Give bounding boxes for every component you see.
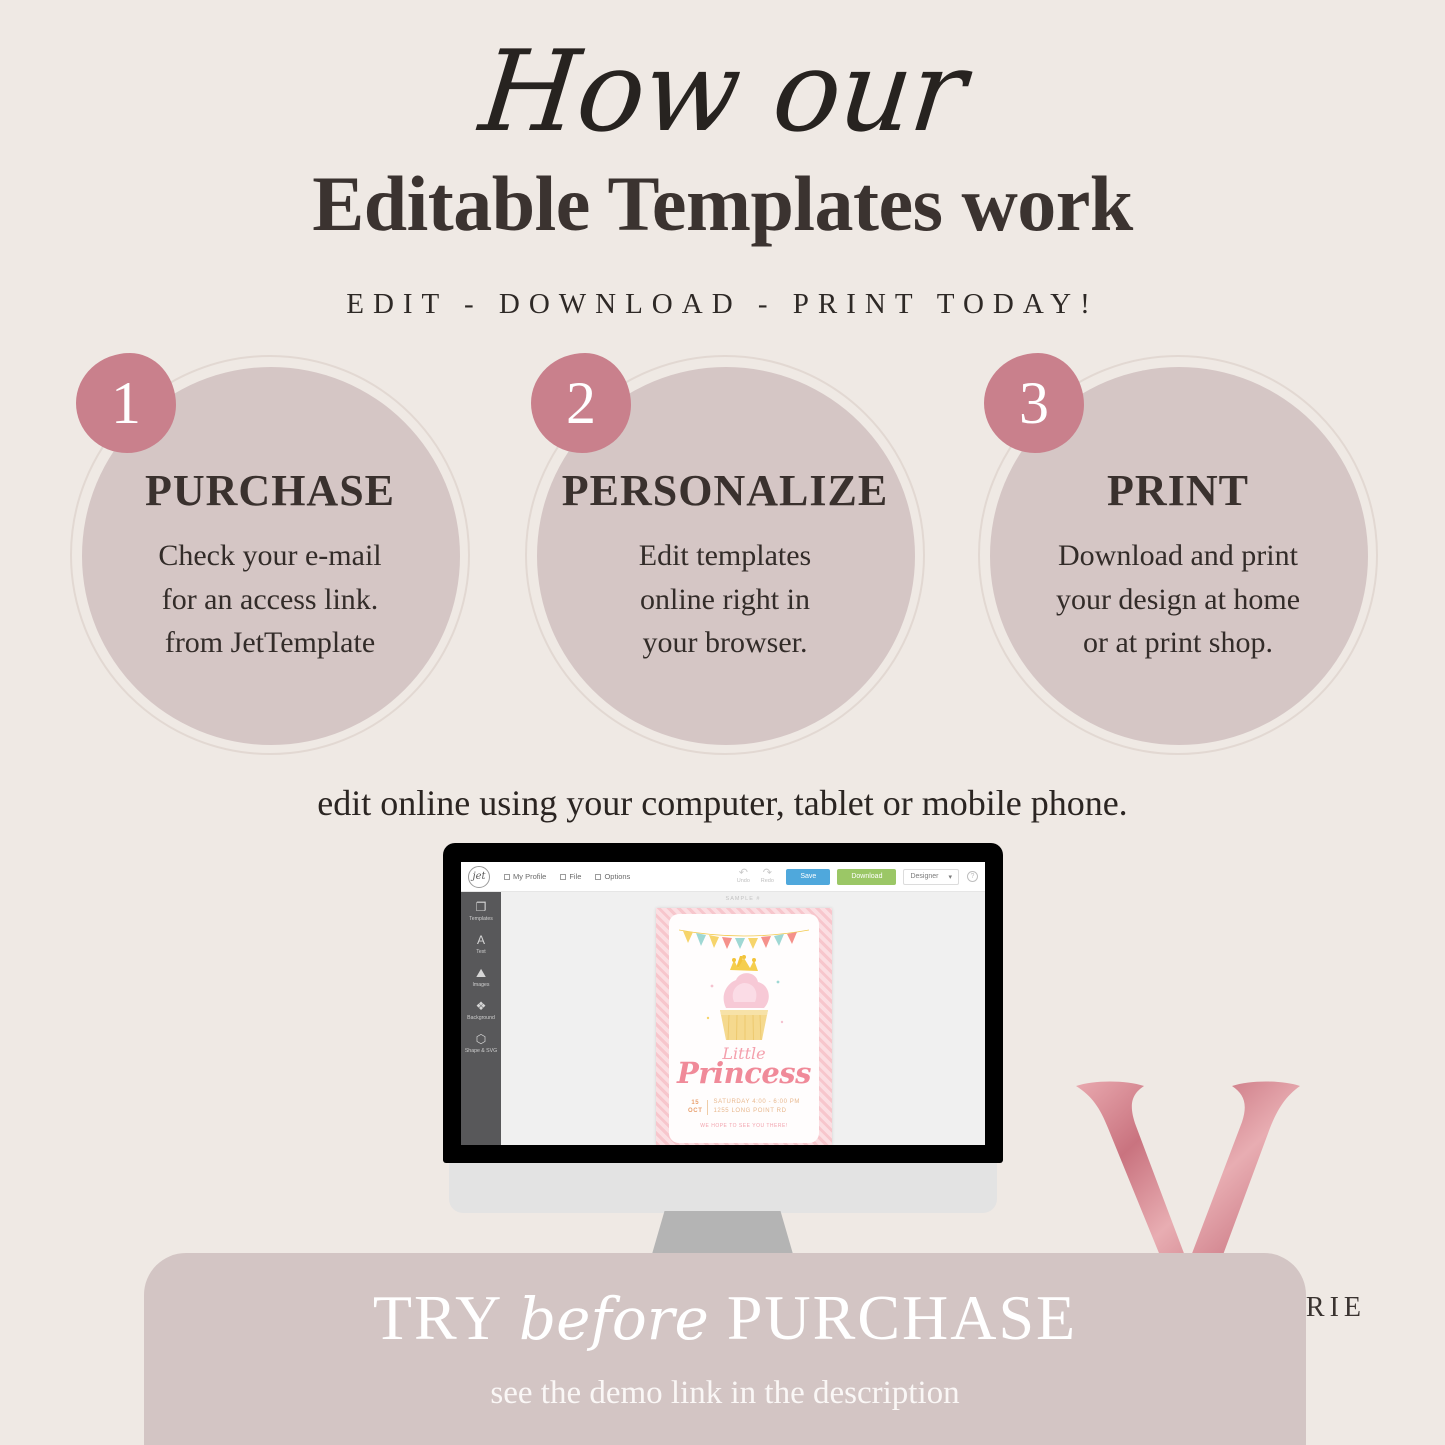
step-body: PERSONALIZE Edit templates online right …: [555, 465, 895, 665]
designer-label: Designer: [910, 873, 938, 880]
step-line: Download and print: [1008, 534, 1348, 578]
editor-toolbar: jet My Profile File Options: [461, 862, 985, 892]
redo-icon: ↷: [755, 869, 779, 878]
text-icon: A: [474, 933, 488, 947]
poster-canvas: How our Editable Templates work EDIT - D…: [0, 0, 1445, 1445]
step-card-2: 2 PERSONALIZE Edit templates online righ…: [525, 355, 925, 755]
monitor-bezel: jet My Profile File Options: [443, 843, 1003, 1163]
card-date: 15 OCT: [688, 1099, 702, 1115]
card-date-day: 15: [688, 1099, 702, 1107]
sidebar-item-label: Text: [476, 949, 486, 955]
bottom-panel: TRY before PURCHASE see the demo link in…: [144, 1253, 1306, 1445]
step-title: PERSONALIZE: [555, 465, 895, 516]
card-date-month: OCT: [688, 1107, 702, 1115]
editor-sidebar: ❐ Templates A Text ⛰ Images ❖ Background: [461, 892, 501, 1145]
redo-label: Redo: [761, 878, 774, 884]
designer-dropdown[interactable]: Designer ▾: [903, 869, 959, 885]
step-line: Check your e-mail: [100, 534, 440, 578]
step-description: Download and print your design at home o…: [1008, 534, 1348, 665]
save-button[interactable]: Save: [786, 869, 830, 885]
file-icon: [560, 874, 566, 880]
options-icon: [595, 874, 601, 880]
step-line: Edit templates: [555, 534, 895, 578]
header-script-line: How our: [0, 34, 1445, 152]
background-icon: ❖: [474, 999, 488, 1013]
sidebar-item-text[interactable]: A Text: [461, 933, 501, 955]
header-subtitle: EDIT - DOWNLOAD - PRINT TODAY!: [0, 288, 1445, 321]
chevron-down-icon: ▾: [948, 873, 952, 881]
menu-label: Options: [604, 872, 630, 881]
panel-title-mid: before: [519, 1285, 709, 1353]
step-line: your browser.: [555, 621, 895, 665]
step-card-3: 3 PRINT Download and print your design a…: [978, 355, 1378, 755]
card-event-meta: 15 OCT SATURDAY 4:00 - 6:00 PM 1255 LONG…: [677, 1098, 811, 1116]
sidebar-item-shape-svg[interactable]: ⬡ Shape & SVG: [461, 1032, 501, 1054]
images-icon: ⛰: [474, 966, 488, 980]
meta-divider: [707, 1100, 708, 1115]
menu-item-file[interactable]: File: [560, 872, 581, 881]
steps-row: 1 PURCHASE Check your e-mail for an acce…: [0, 355, 1445, 755]
monitor-mockup: jet My Profile File Options: [443, 843, 1003, 1253]
menu-item-options[interactable]: Options: [595, 872, 630, 881]
panel-title: TRY before PURCHASE: [144, 1281, 1306, 1355]
sidebar-item-label: Shape & SVG: [465, 1048, 497, 1054]
help-icon[interactable]: ?: [967, 871, 978, 882]
download-button[interactable]: Download: [837, 869, 896, 885]
redo-button[interactable]: ↷ Redo: [755, 869, 779, 884]
step-line: or at print shop.: [1008, 621, 1348, 665]
device-caption: edit online using your computer, tablet …: [0, 782, 1445, 824]
sidebar-item-label: Background: [467, 1015, 495, 1021]
jet-logo-icon[interactable]: jet: [468, 866, 490, 888]
step-body: PRINT Download and print your design at …: [1008, 465, 1348, 665]
monitor-chin: [449, 1163, 997, 1213]
step-line: for an access link.: [100, 578, 440, 622]
shape-svg-icon: ⬡: [474, 1032, 488, 1046]
page-title: Editable Templates work: [0, 165, 1445, 243]
user-icon: [504, 874, 510, 880]
step-description: Edit templates online right in your brow…: [555, 534, 895, 665]
undo-button[interactable]: ↶ Undo: [731, 869, 755, 884]
sidebar-item-templates[interactable]: ❐ Templates: [461, 900, 501, 922]
step-number-badge: 2: [531, 353, 631, 453]
menu-label: My Profile: [513, 872, 546, 881]
step-title: PRINT: [1008, 465, 1348, 516]
sidebar-item-label: Images: [472, 982, 489, 988]
step-line: your design at home: [1008, 578, 1348, 622]
templates-icon: ❐: [474, 900, 488, 914]
step-line: from JetTemplate: [100, 621, 440, 665]
step-title: PURCHASE: [100, 465, 440, 516]
sidebar-item-images[interactable]: ⛰ Images: [461, 966, 501, 988]
card-time-line: SATURDAY 4:00 - 6:00 PM: [713, 1098, 800, 1107]
step-body: PURCHASE Check your e-mail for an access…: [100, 465, 440, 665]
menu-item-my-profile[interactable]: My Profile: [504, 872, 546, 881]
sidebar-item-label: Templates: [469, 916, 493, 922]
step-card-1: 1 PURCHASE Check your e-mail for an acce…: [70, 355, 470, 755]
card-address-line: 1255 LONG POINT RD: [713, 1107, 800, 1116]
editor-canvas[interactable]: SAMPLE #: [501, 892, 985, 1145]
sidebar-item-background[interactable]: ❖ Background: [461, 999, 501, 1021]
panel-title-right: PURCHASE: [727, 1282, 1077, 1353]
step-number-badge: 3: [984, 353, 1084, 453]
bunting-icon: [679, 928, 809, 950]
card-footer-note: WE HOPE TO SEE YOU THERE!: [669, 1123, 819, 1129]
undo-label: Undo: [737, 878, 750, 884]
card-detail-lines: SATURDAY 4:00 - 6:00 PM 1255 LONG POINT …: [713, 1098, 800, 1116]
editor-screen: jet My Profile File Options: [461, 862, 985, 1145]
menu-label: File: [569, 872, 581, 881]
card-title: Princess: [669, 1056, 819, 1090]
card-inner-panel: Little Princess 15 OCT SATURDAY 4:00 - 6…: [669, 914, 819, 1143]
panel-title-left: TRY: [373, 1282, 501, 1353]
panel-subtitle: see the demo link in the description: [144, 1375, 1306, 1412]
undo-icon: ↶: [731, 869, 755, 878]
step-line: online right in: [555, 578, 895, 622]
invitation-card[interactable]: Little Princess 15 OCT SATURDAY 4:00 - 6…: [656, 908, 832, 1145]
cupcake-icon: [700, 952, 788, 1044]
step-number-badge: 1: [76, 353, 176, 453]
canvas-sample-label: SAMPLE #: [501, 896, 985, 902]
step-description: Check your e-mail for an access link. fr…: [100, 534, 440, 665]
